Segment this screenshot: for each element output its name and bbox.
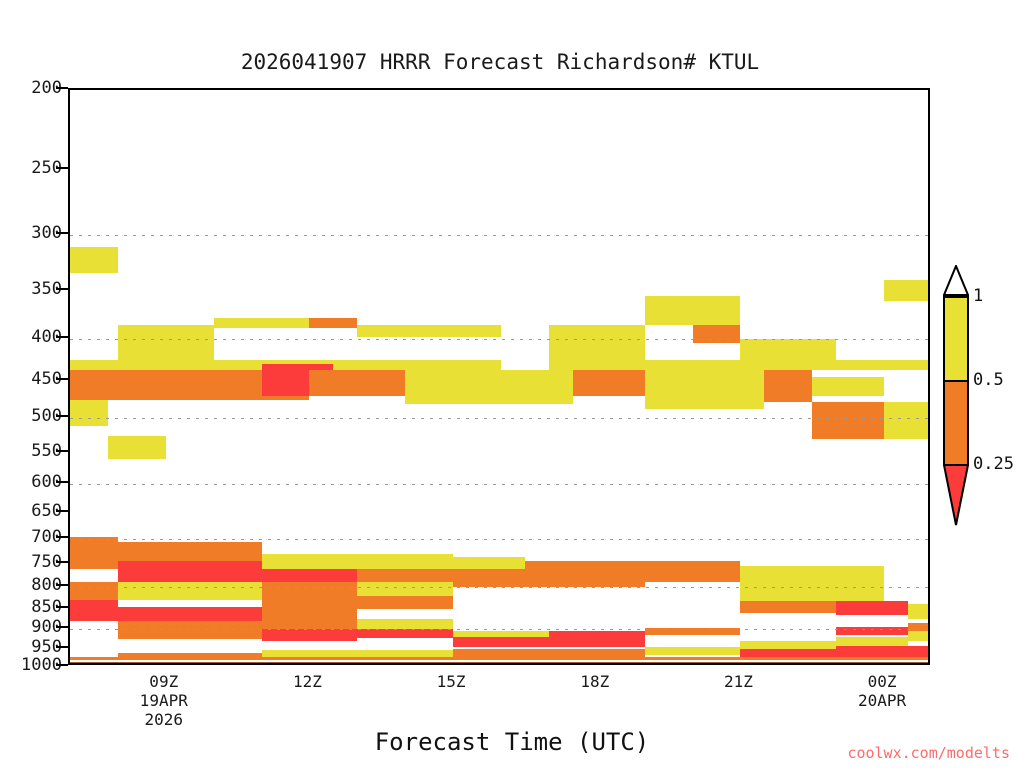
colorbar-segment [943,296,969,380]
heatmap-cell [908,604,930,619]
y-axis-tick-mark [56,167,68,169]
y-axis-tick-label: 850 [0,597,62,617]
heatmap-cell [357,629,453,638]
heatmap-cell [836,601,908,615]
y-axis-tick-label: 400 [0,327,62,347]
y-axis-tick-label: 600 [0,472,62,492]
heatmap-cell [453,637,645,647]
heatmap-cell [70,247,118,273]
heatmap-cell [693,325,741,343]
heatmap-cell [357,596,453,609]
heatmap-cell [70,400,108,425]
heatmap-cell [309,318,357,327]
y-axis-tick-label: 950 [0,637,62,657]
x-axis-tick-label: 00Z 20APR [858,672,906,710]
y-axis-tick-label: 800 [0,575,62,595]
y-axis-tick-mark [56,664,68,666]
gridline [70,418,928,419]
gridline [70,539,928,540]
colorbar-tick [943,296,969,298]
heatmap-cell [573,370,645,396]
heatmap-cell [740,641,836,649]
y-axis-tick-mark [56,536,68,538]
heatmap-cell [118,325,214,370]
heatmap-cell [118,629,262,639]
heatmap-cell [525,561,741,582]
colorbar-tick [943,380,969,382]
heatmap-cell [812,377,884,397]
y-axis-tick-label: 900 [0,617,62,637]
heatmap-cell [501,337,549,371]
heatmap-cell [740,566,884,587]
heatmap-cell [262,554,454,568]
heatmap-cell [262,629,358,641]
heatmap-cell [764,370,812,402]
heatmap-cell [108,436,165,459]
heatmap-cell [262,607,358,622]
heatmap-cell [405,370,573,404]
heatmap-cell [884,402,930,439]
heatmap-cells [70,90,928,663]
heatmap-cell [357,582,453,595]
y-axis-tick-mark [56,626,68,628]
y-axis-tick-mark [56,510,68,512]
heatmap-cell [214,318,310,327]
colorbar-label: 0.25 [973,454,1014,474]
colorbar-label: 0.5 [973,370,1004,390]
chart-root: 2026041907 HRRR Forecast Richardson# KTU… [0,0,1024,768]
heatmap-cell [118,607,262,622]
y-axis-tick-mark [56,606,68,608]
watermark: coolwx.com/modelts [0,744,1024,762]
heatmap-cell [70,600,118,621]
y-axis-tick-label: 200 [0,78,62,98]
y-axis-tick-label: 750 [0,552,62,572]
x-axis-tick-label: 09Z 19APR 2026 [140,672,188,729]
y-axis-tick-mark [56,288,68,290]
y-axis-tick-label: 650 [0,501,62,521]
colorbar-arrow-up-outline [943,265,969,296]
y-axis-tick-label: 450 [0,369,62,389]
terrain-band [70,662,928,665]
y-axis-tick-label: 500 [0,406,62,426]
chart-title: 2026041907 HRRR Forecast Richardson# KTU… [0,50,1024,74]
plot-area [68,88,930,665]
heatmap-cell [549,325,645,370]
y-axis-tick-mark [56,584,68,586]
heatmap-cell [740,339,836,371]
heatmap-cell [908,631,930,641]
colorbar: 10.50.25 [943,296,969,464]
heatmap-cell [740,649,836,657]
gridline [70,587,928,588]
y-axis-tick-label: 250 [0,158,62,178]
y-axis-tick-mark [56,336,68,338]
x-axis-tick-label: 12Z [293,672,322,691]
y-axis-tick-label: 550 [0,441,62,461]
heatmap-cell [118,582,262,600]
colorbar-arrow-down-outline [943,464,969,526]
y-axis-tick-label: 300 [0,223,62,243]
heatmap-cell [70,537,118,569]
heatmap-cell [836,646,930,657]
x-axis-tick-label: 21Z [724,672,753,691]
y-axis-tick-label: 700 [0,527,62,547]
y-axis-tick-label: 350 [0,279,62,299]
chart-title-text: 2026041907 HRRR Forecast Richardson# KTU… [241,50,759,74]
heatmap-cell [70,582,118,600]
gridline [70,339,928,340]
heatmap-cell [453,649,645,657]
heatmap-cell [645,370,765,409]
y-axis-tick-label: 1000 [0,655,62,675]
heatmap-cell [740,587,884,601]
heatmap-cell [357,325,501,337]
gridline [70,235,928,236]
y-axis-tick-mark [56,450,68,452]
heatmap-cell [118,621,357,629]
y-axis-tick-mark [56,415,68,417]
heatmap-cell [740,601,836,613]
heatmap-cell [836,637,908,645]
heatmap-cell [549,631,645,638]
colorbar-segment [943,380,969,464]
gridline [70,629,928,630]
y-axis-tick-mark [56,378,68,380]
y-axis-tick-mark [56,561,68,563]
heatmap-cell [884,280,930,300]
y-axis-tick-mark [56,232,68,234]
heatmap-cell [70,657,930,661]
heatmap-cell [812,402,884,439]
heatmap-cell [645,647,741,656]
colorbar-label: 1 [973,286,983,306]
y-axis-tick-mark [56,481,68,483]
heatmap-cell [309,370,405,396]
y-axis-tick-mark [56,87,68,89]
heatmap-cell [645,296,741,325]
gridline [70,484,928,485]
y-axis-tick-mark [56,646,68,648]
x-axis-tick-label: 15Z [437,672,466,691]
x-axis-tick-label: 18Z [580,672,609,691]
heatmap-cell [357,619,453,629]
